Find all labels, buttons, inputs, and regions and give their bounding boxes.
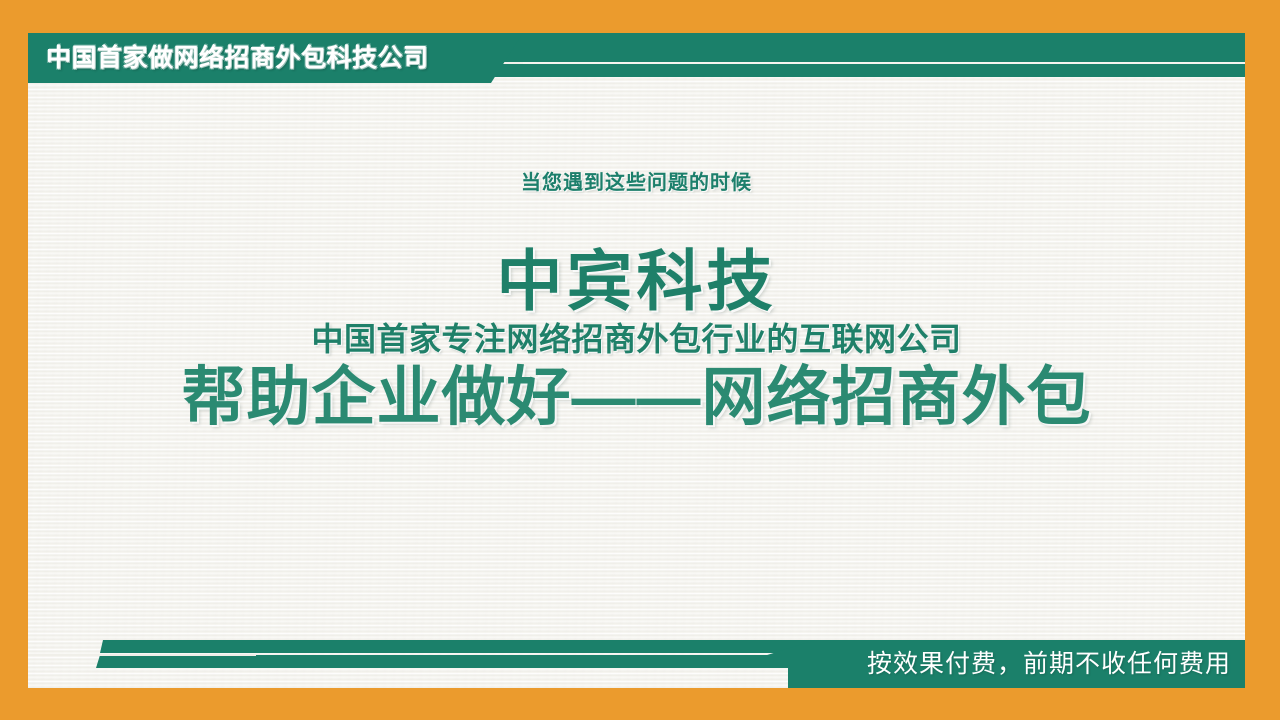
header-title: 中国首家做网络招商外包科技公司 — [46, 41, 429, 75]
slide-content: 当您遇到这些问题的时候 中宾科技 中国首家专注网络招商外包行业的互联网公司 帮助… — [28, 83, 1245, 603]
headline-text: 帮助企业做好——网络招商外包 — [28, 359, 1245, 435]
brand-title: 中宾科技 — [28, 245, 1245, 317]
eyebrow-text: 当您遇到这些问题的时候 — [28, 166, 1245, 195]
tagline-text: 中国首家专注网络招商外包行业的互联网公司 — [28, 320, 1245, 358]
footer-text: 按效果付费，前期不收任何费用 — [867, 648, 1231, 681]
slide-root: 中国首家做网络招商外包科技公司 当您遇到这些问题的时候 中宾科技 中国首家专注网… — [0, 0, 1280, 720]
